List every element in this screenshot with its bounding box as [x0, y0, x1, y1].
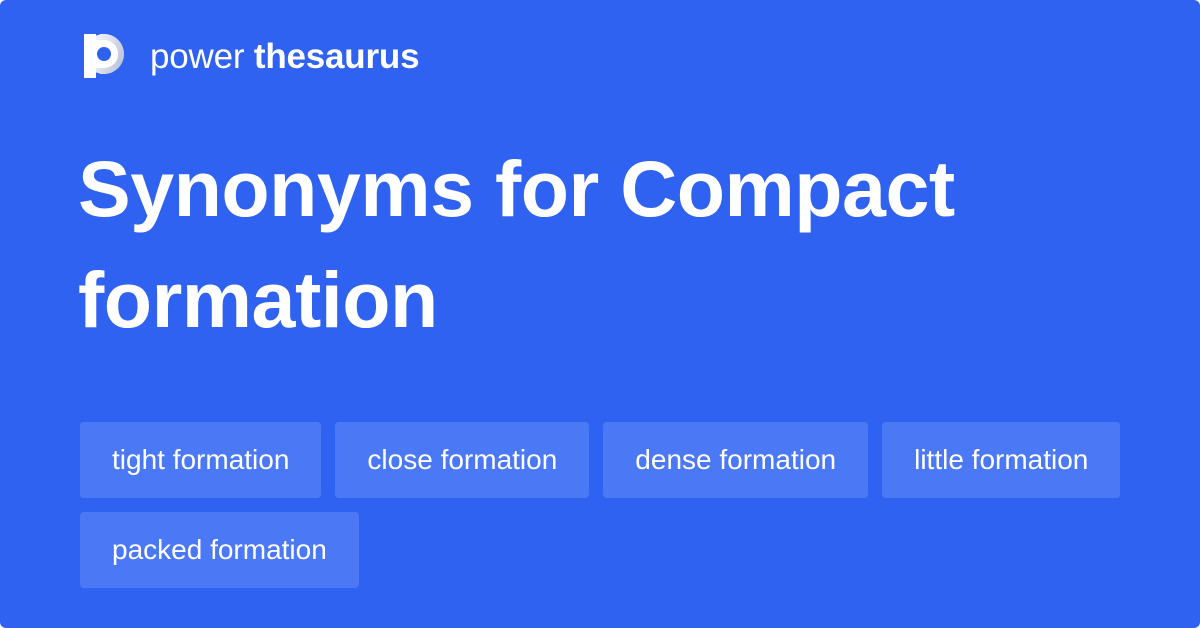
page-title-line-two: formation: [78, 255, 438, 344]
synonym-chip[interactable]: packed formation: [80, 512, 359, 588]
page-title: Synonyms for Compact formation: [78, 133, 1078, 356]
brand-header[interactable]: power thesaurus: [80, 28, 419, 84]
og-share-card: power thesaurus Synonyms for Compact for…: [0, 0, 1200, 628]
power-thesaurus-b-logo-icon: [80, 32, 128, 80]
synonym-chip[interactable]: close formation: [335, 422, 589, 498]
brand-wordmark: power thesaurus: [150, 39, 419, 74]
synonym-chip[interactable]: little formation: [882, 422, 1120, 498]
brand-wordmark-power: power: [150, 37, 254, 76]
synonym-chip-list: tight formation close formation dense fo…: [80, 422, 1140, 588]
synonym-chip[interactable]: dense formation: [603, 422, 868, 498]
synonym-chip[interactable]: tight formation: [80, 422, 321, 498]
page-title-line-one: Synonyms for Compact: [78, 144, 955, 233]
brand-wordmark-thesaurus: thesaurus: [254, 37, 419, 76]
